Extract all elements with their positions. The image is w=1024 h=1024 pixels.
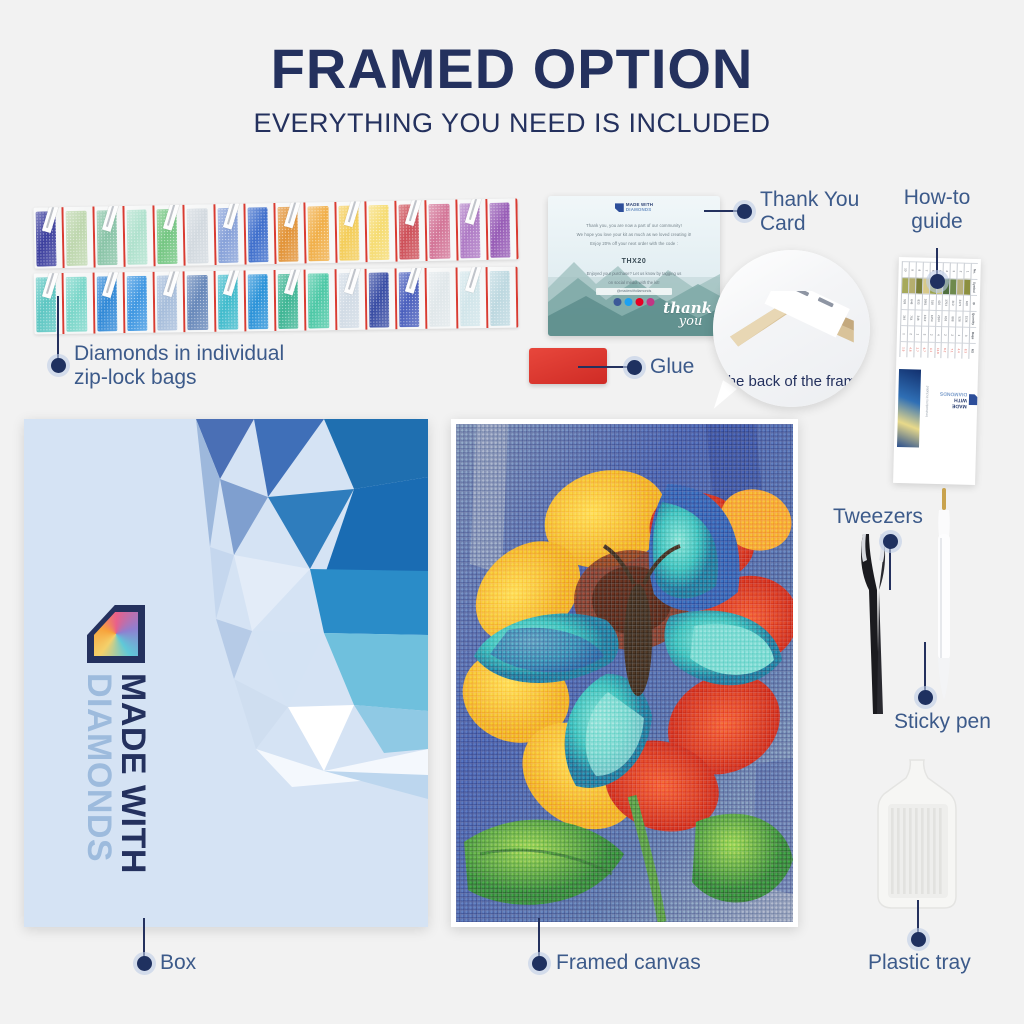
ziplock-bag bbox=[275, 202, 306, 264]
canvas-diamond-facets bbox=[456, 424, 793, 922]
card-message: Thank you, you are now a part of our com… bbox=[560, 222, 708, 248]
callout-dot-canvas bbox=[532, 956, 547, 971]
bag-sheen bbox=[487, 267, 516, 328]
ziplock-bag bbox=[245, 270, 276, 331]
sticky-pen-tool bbox=[934, 488, 954, 700]
frame-corner-illustration bbox=[726, 291, 858, 366]
card-message-line1: Thank you, you are now a part of our com… bbox=[560, 222, 708, 231]
ziplock-bag bbox=[185, 204, 216, 266]
card-promo-code: THX20 bbox=[548, 258, 720, 265]
ziplock-bag bbox=[94, 272, 125, 333]
ziplock-bag bbox=[487, 267, 518, 328]
ziplock-bag bbox=[427, 267, 458, 328]
guide-header-cell: No. bbox=[971, 263, 977, 279]
callout-line-glue bbox=[578, 366, 630, 368]
callout-dot-box bbox=[137, 956, 152, 971]
bag-sheen bbox=[124, 272, 153, 333]
ziplock-bag bbox=[336, 269, 367, 330]
bag-sheen bbox=[457, 267, 486, 328]
how-to-guide: 1092634411.9964675424.8883334812.7738611… bbox=[893, 257, 981, 485]
ziplock-bag bbox=[457, 199, 488, 261]
callout-label-box: Box bbox=[160, 951, 196, 975]
bag-sheen bbox=[275, 202, 304, 264]
bag-sheen bbox=[215, 204, 244, 266]
guide-logo: MADE WITH DIAMONDS bbox=[939, 390, 980, 408]
diamond-logo-icon bbox=[969, 394, 980, 405]
callout-line-pen bbox=[924, 642, 926, 690]
page-subtitle: EVERYTHING YOU NEED IS INCLUDED bbox=[0, 108, 1024, 139]
callout-dot-tweezers bbox=[883, 534, 898, 549]
ziplock-bag bbox=[215, 270, 246, 331]
box-brand-lockup: MADE WITH DIAMONDS bbox=[82, 605, 150, 874]
card-thank-you-script: thank you bbox=[663, 301, 712, 328]
card-message-line4: Enjoyed your purchase? Let us know by ta… bbox=[562, 270, 706, 279]
bag-sheen bbox=[64, 207, 93, 269]
callout-line-tweezers bbox=[889, 548, 891, 590]
ziplock-bag bbox=[396, 200, 427, 262]
thank-you-card: MADE WITH DIAMONDS Thank you, you are no… bbox=[548, 196, 720, 336]
ziplock-bag bbox=[306, 202, 337, 264]
ziplock-bag bbox=[64, 206, 95, 268]
bag-sheen bbox=[215, 270, 244, 331]
bag-sheen bbox=[64, 273, 93, 334]
bag-sheen bbox=[397, 268, 426, 329]
callout-label-tweezers: Tweezers bbox=[833, 505, 923, 529]
bag-sheen bbox=[306, 202, 335, 264]
ziplock-bag bbox=[427, 200, 458, 262]
card-logo-text: MADE WITH DIAMONDS bbox=[626, 203, 653, 213]
bag-sheen bbox=[427, 267, 456, 328]
ziplock-bag bbox=[154, 205, 185, 267]
callout-line-box bbox=[143, 918, 145, 960]
bag-sheen bbox=[94, 206, 123, 268]
page-title: FRAMED OPTION bbox=[0, 36, 1024, 101]
diamond-logo-icon bbox=[615, 203, 624, 212]
pinterest-icon bbox=[636, 298, 644, 306]
bag-sheen bbox=[94, 272, 123, 333]
bag-sheen bbox=[427, 200, 456, 262]
ziplock-bag bbox=[124, 272, 155, 333]
bag-sheen bbox=[154, 205, 183, 267]
ziplock-bag bbox=[245, 203, 276, 265]
ziplock-bag bbox=[336, 201, 367, 263]
guide-photo-strip bbox=[897, 369, 921, 448]
ziplock-bag bbox=[94, 206, 125, 268]
card-message-line5: on social media with the kit! bbox=[562, 279, 706, 288]
guide-header-cell: ID bbox=[971, 295, 977, 311]
callout-label-sticky-pen: Sticky pen bbox=[894, 710, 991, 734]
card-logo: MADE WITH DIAMONDS bbox=[615, 203, 653, 213]
bag-sheen bbox=[306, 269, 335, 330]
diamond-logo-icon bbox=[87, 605, 145, 663]
card-message-line3: Enjoy 20% off your next order with the c… bbox=[560, 240, 708, 249]
bag-sheen bbox=[185, 271, 214, 332]
ziplock-bag bbox=[34, 273, 65, 334]
ziplock-bag-row-top bbox=[33, 198, 518, 268]
bag-sheen bbox=[366, 268, 395, 329]
twitter-icon bbox=[625, 298, 633, 306]
card-social-handle: @madewithdiamonds bbox=[596, 288, 672, 295]
bag-sheen bbox=[124, 205, 153, 267]
box-brand-text: MADE WITH DIAMONDS bbox=[82, 673, 150, 874]
bag-sheen bbox=[457, 199, 486, 261]
ziplock-bag-row-bottom bbox=[34, 267, 519, 335]
callout-label-thank-you-card: Thank You Card bbox=[760, 188, 859, 236]
callout-label-diamonds-bags: Diamonds in individual zip-lock bags bbox=[74, 342, 284, 390]
guide-table-header: No.SymbolIDQuantityBagsM2 bbox=[968, 263, 977, 359]
ziplock-bag bbox=[33, 207, 64, 269]
frame-back-bubble: The back of the frame bbox=[713, 250, 870, 407]
ziplock-bag bbox=[276, 270, 307, 331]
callout-line-tray bbox=[917, 900, 919, 936]
facebook-icon bbox=[614, 298, 622, 306]
callout-label-how-to-guide: How-to guide bbox=[894, 186, 980, 234]
bag-sheen bbox=[336, 201, 365, 263]
bag-sheen bbox=[245, 203, 274, 265]
bag-sheen bbox=[366, 201, 395, 263]
callout-line-diamonds bbox=[57, 296, 59, 364]
card-message-line2: We hope you love your kit as much as we … bbox=[560, 231, 708, 240]
framed-canvas bbox=[451, 419, 798, 927]
ziplock-bag bbox=[215, 204, 246, 266]
bag-sheen bbox=[245, 270, 274, 331]
callout-dot-diamonds bbox=[51, 358, 66, 373]
ziplock-bag bbox=[185, 271, 216, 332]
script-you: you bbox=[669, 316, 712, 328]
guide-logo-text: MADE WITH DIAMONDS bbox=[939, 390, 967, 408]
callout-line-canvas bbox=[538, 918, 540, 960]
callout-dot-card bbox=[737, 204, 752, 219]
ziplock-bag bbox=[124, 205, 155, 267]
bag-sheen bbox=[487, 198, 516, 260]
card-message-2: Enjoyed your purchase? Let us know by ta… bbox=[562, 270, 706, 288]
callout-label-framed-canvas: Framed canvas bbox=[556, 951, 701, 975]
bag-sheen bbox=[185, 204, 214, 266]
instagram-icon bbox=[647, 298, 655, 306]
callout-label-glue: Glue bbox=[650, 355, 694, 379]
callout-label-frame-back: The back of the frame bbox=[713, 373, 870, 391]
guide-header-cell: M2 bbox=[969, 343, 975, 359]
callout-dot-guide bbox=[930, 274, 945, 289]
bag-sheen bbox=[276, 270, 305, 331]
product-box: MADE WITH DIAMONDS bbox=[24, 419, 428, 927]
canvas-artwork bbox=[456, 424, 793, 922]
ziplock-bag bbox=[155, 271, 186, 332]
card-social-icons bbox=[614, 298, 655, 306]
bag-sheen bbox=[396, 200, 425, 262]
bag-sheen bbox=[155, 271, 184, 332]
ziplock-bag bbox=[397, 268, 428, 329]
bag-sheen bbox=[33, 207, 62, 269]
callout-label-plastic-tray: Plastic tray bbox=[868, 951, 971, 975]
callout-dot-glue bbox=[627, 360, 642, 375]
plastic-tray-tool bbox=[876, 758, 960, 920]
guide-footer-note: Instructions included bbox=[925, 386, 930, 417]
callout-dot-tray bbox=[911, 932, 926, 947]
poster-stage: FRAMED OPTION EVERYTHING YOU NEED IS INC… bbox=[0, 0, 1024, 1024]
ziplock-bag bbox=[64, 273, 95, 334]
ziplock-bag bbox=[366, 268, 397, 329]
ziplock-bag bbox=[457, 267, 488, 328]
guide-header-cell: Symbol bbox=[971, 279, 977, 295]
guide-header-cell: Bags bbox=[970, 327, 976, 343]
ziplock-bag bbox=[306, 269, 337, 330]
ziplock-bag bbox=[366, 201, 397, 263]
callout-dot-pen bbox=[918, 690, 933, 705]
ziplock-bag bbox=[487, 198, 518, 260]
bag-sheen bbox=[336, 269, 365, 330]
guide-header-cell: Quantity bbox=[970, 311, 976, 327]
